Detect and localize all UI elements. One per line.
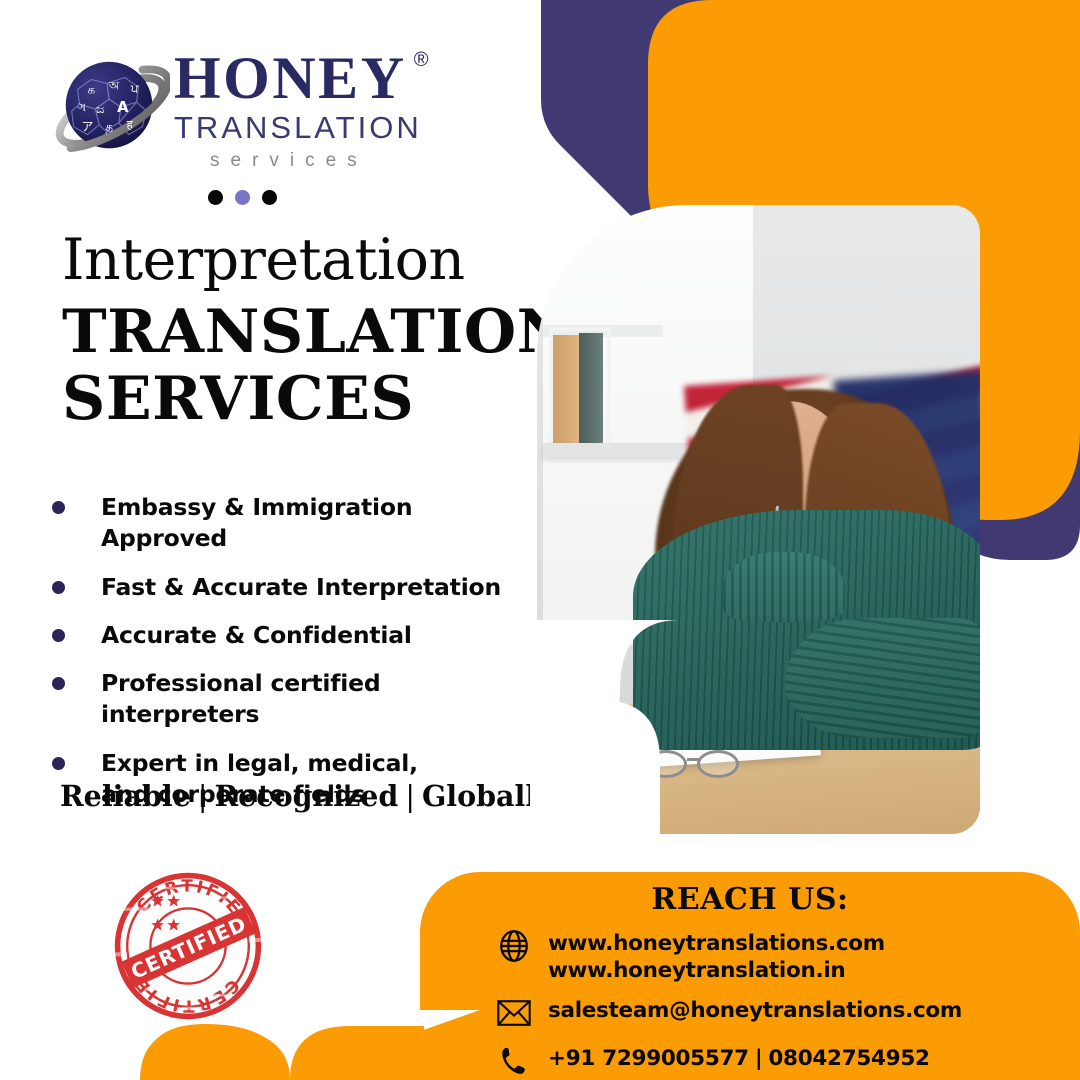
bullet-dot-icon <box>52 629 65 642</box>
dot-3 <box>262 190 277 205</box>
phone-separator: | <box>749 1046 769 1071</box>
list-item: Accurate & Confidential <box>52 620 532 651</box>
contact-row-website[interactable]: www.honeytranslations.com www.honeytrans… <box>492 926 1052 985</box>
tagline-part-1: Reliable <box>60 779 191 813</box>
dot-1 <box>208 190 223 205</box>
list-item-label: Fast & Accurate Interpretation <box>101 572 501 603</box>
tagline-separator-2: | <box>398 780 422 813</box>
brand-wordmark: HONEY® TRANSLATION services <box>174 48 474 172</box>
dot-2 <box>235 190 250 205</box>
bullet-dot-icon <box>52 501 65 514</box>
svg-text:ગ: ગ <box>77 100 86 114</box>
hero-photo-scene <box>537 205 980 834</box>
headline-main-line-1: TRANSLATION <box>62 299 532 366</box>
feature-list: Embassy & Immigration Approved Fast & Ac… <box>52 492 532 827</box>
svg-text:ಜ: ಜ <box>96 102 105 117</box>
poster-canvas: க অ ਪ ગ ಜ A ア த ह HONEY® TRANSLATION ser… <box>0 0 1080 1080</box>
svg-text:A: A <box>117 99 129 116</box>
globe-languages-icon: க অ ਪ ગ ಜ A ア த ह <box>52 50 170 168</box>
globe-icon <box>492 926 536 966</box>
svg-text:ア: ア <box>81 120 93 134</box>
contact-email-line[interactable]: salesteam@honeytranslations.com <box>548 993 962 1024</box>
website-line-1[interactable]: www.honeytranslations.com <box>548 931 885 956</box>
registered-trademark-icon: ® <box>414 50 429 70</box>
phone-icon <box>492 1041 536 1080</box>
list-item: Embassy & Immigration Approved <box>52 492 532 555</box>
list-item: Fast & Accurate Interpretation <box>52 572 532 603</box>
svg-text:த: த <box>105 120 113 134</box>
svg-text:க: க <box>88 82 96 96</box>
headline-main-line-2: SERVICES <box>62 366 532 433</box>
hero-photo <box>537 205 980 834</box>
phone-number-1[interactable]: +91 7299005577 <box>548 1046 749 1071</box>
bullet-dot-icon <box>52 677 65 690</box>
brand-name-secondary: TRANSLATION <box>174 110 474 146</box>
certified-stamp-icon: CERTIFIED CERTIFIED CERTIFIED <box>108 866 268 1026</box>
list-item-label: Accurate & Confidential <box>101 620 412 651</box>
decorative-dots <box>208 190 277 205</box>
svg-text:CERTIFIED: CERTIFIED <box>127 911 250 983</box>
contact-rows: www.honeytranslations.com www.honeytrans… <box>492 926 1052 1080</box>
list-item-label: Embassy & Immigration Approved <box>101 492 532 555</box>
contact-row-phone[interactable]: +91 7299005577|08042754952 <box>492 1041 1052 1080</box>
contact-website-lines[interactable]: www.honeytranslations.com www.honeytrans… <box>548 926 885 985</box>
list-item-label: Professional certified interpreters <box>101 668 532 731</box>
envelope-icon <box>492 993 536 1033</box>
brand-name-tertiary: services <box>174 150 474 172</box>
brand-logo: க অ ਪ ગ ಜ A ア த ह HONEY® TRANSLATION ser… <box>52 42 472 192</box>
list-item: Professional certified interpreters <box>52 668 532 731</box>
svg-text:ह: ह <box>127 118 134 132</box>
contact-card: REACH US: www.honeytranslations.com www.… <box>420 872 1080 1080</box>
headline-block: Interpretation TRANSLATION SERVICES <box>62 232 532 433</box>
brand-name-primary-text: HONEY <box>174 45 407 111</box>
phone-number-2[interactable]: 08042754952 <box>768 1046 929 1071</box>
contact-heading: REACH US: <box>420 882 1080 917</box>
contact-phone-line[interactable]: +91 7299005577|08042754952 <box>548 1041 930 1072</box>
website-line-2[interactable]: www.honeytranslation.in <box>548 958 845 983</box>
svg-text:ਪ: ਪ <box>130 81 139 95</box>
tagline-part-2: Recognized <box>214 779 398 813</box>
headline-script-line: Interpretation <box>62 232 532 289</box>
brand-name-primary: HONEY® <box>174 48 407 108</box>
svg-text:অ: অ <box>108 78 120 92</box>
tagline-separator-1: | <box>191 780 215 813</box>
bullet-dot-icon <box>52 757 65 770</box>
bullet-dot-icon <box>52 581 65 594</box>
contact-row-email[interactable]: salesteam@honeytranslations.com <box>492 993 1052 1033</box>
